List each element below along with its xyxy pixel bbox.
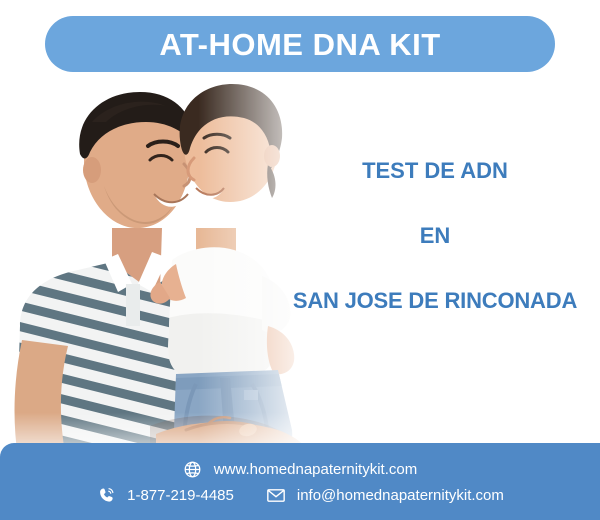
phone-contact[interactable]: 1-877-219-4485 bbox=[96, 486, 234, 506]
phone-icon bbox=[96, 486, 116, 506]
globe-icon bbox=[183, 460, 203, 480]
poster-canvas: AT-HOME DNA KIT bbox=[0, 0, 600, 520]
footer-contact-bar: www.homednapaternitykit.com 1-877-219-44… bbox=[0, 443, 600, 520]
page-title: AT-HOME DNA KIT bbox=[159, 29, 440, 60]
website-label: www.homednapaternitykit.com bbox=[214, 462, 417, 477]
phone-label: 1-877-219-4485 bbox=[127, 488, 234, 503]
website-contact[interactable]: www.homednapaternitykit.com bbox=[183, 460, 417, 480]
email-contact[interactable]: info@homednapaternitykit.com bbox=[266, 486, 504, 506]
headline-line-2: EN bbox=[270, 225, 600, 247]
email-label: info@homednapaternitykit.com bbox=[297, 488, 504, 503]
footer-row-phone-email: 1-877-219-4485 info@homednapaternitykit.… bbox=[96, 486, 504, 506]
footer-row-website: www.homednapaternitykit.com bbox=[183, 460, 417, 480]
headline-line-1: TEST DE ADN bbox=[270, 160, 600, 182]
headline-block: TEST DE ADN EN SAN JOSE DE RINCONADA bbox=[270, 160, 600, 312]
envelope-icon bbox=[266, 486, 286, 506]
header-banner: AT-HOME DNA KIT bbox=[45, 16, 555, 72]
headline-line-3: SAN JOSE DE RINCONADA bbox=[270, 290, 600, 312]
